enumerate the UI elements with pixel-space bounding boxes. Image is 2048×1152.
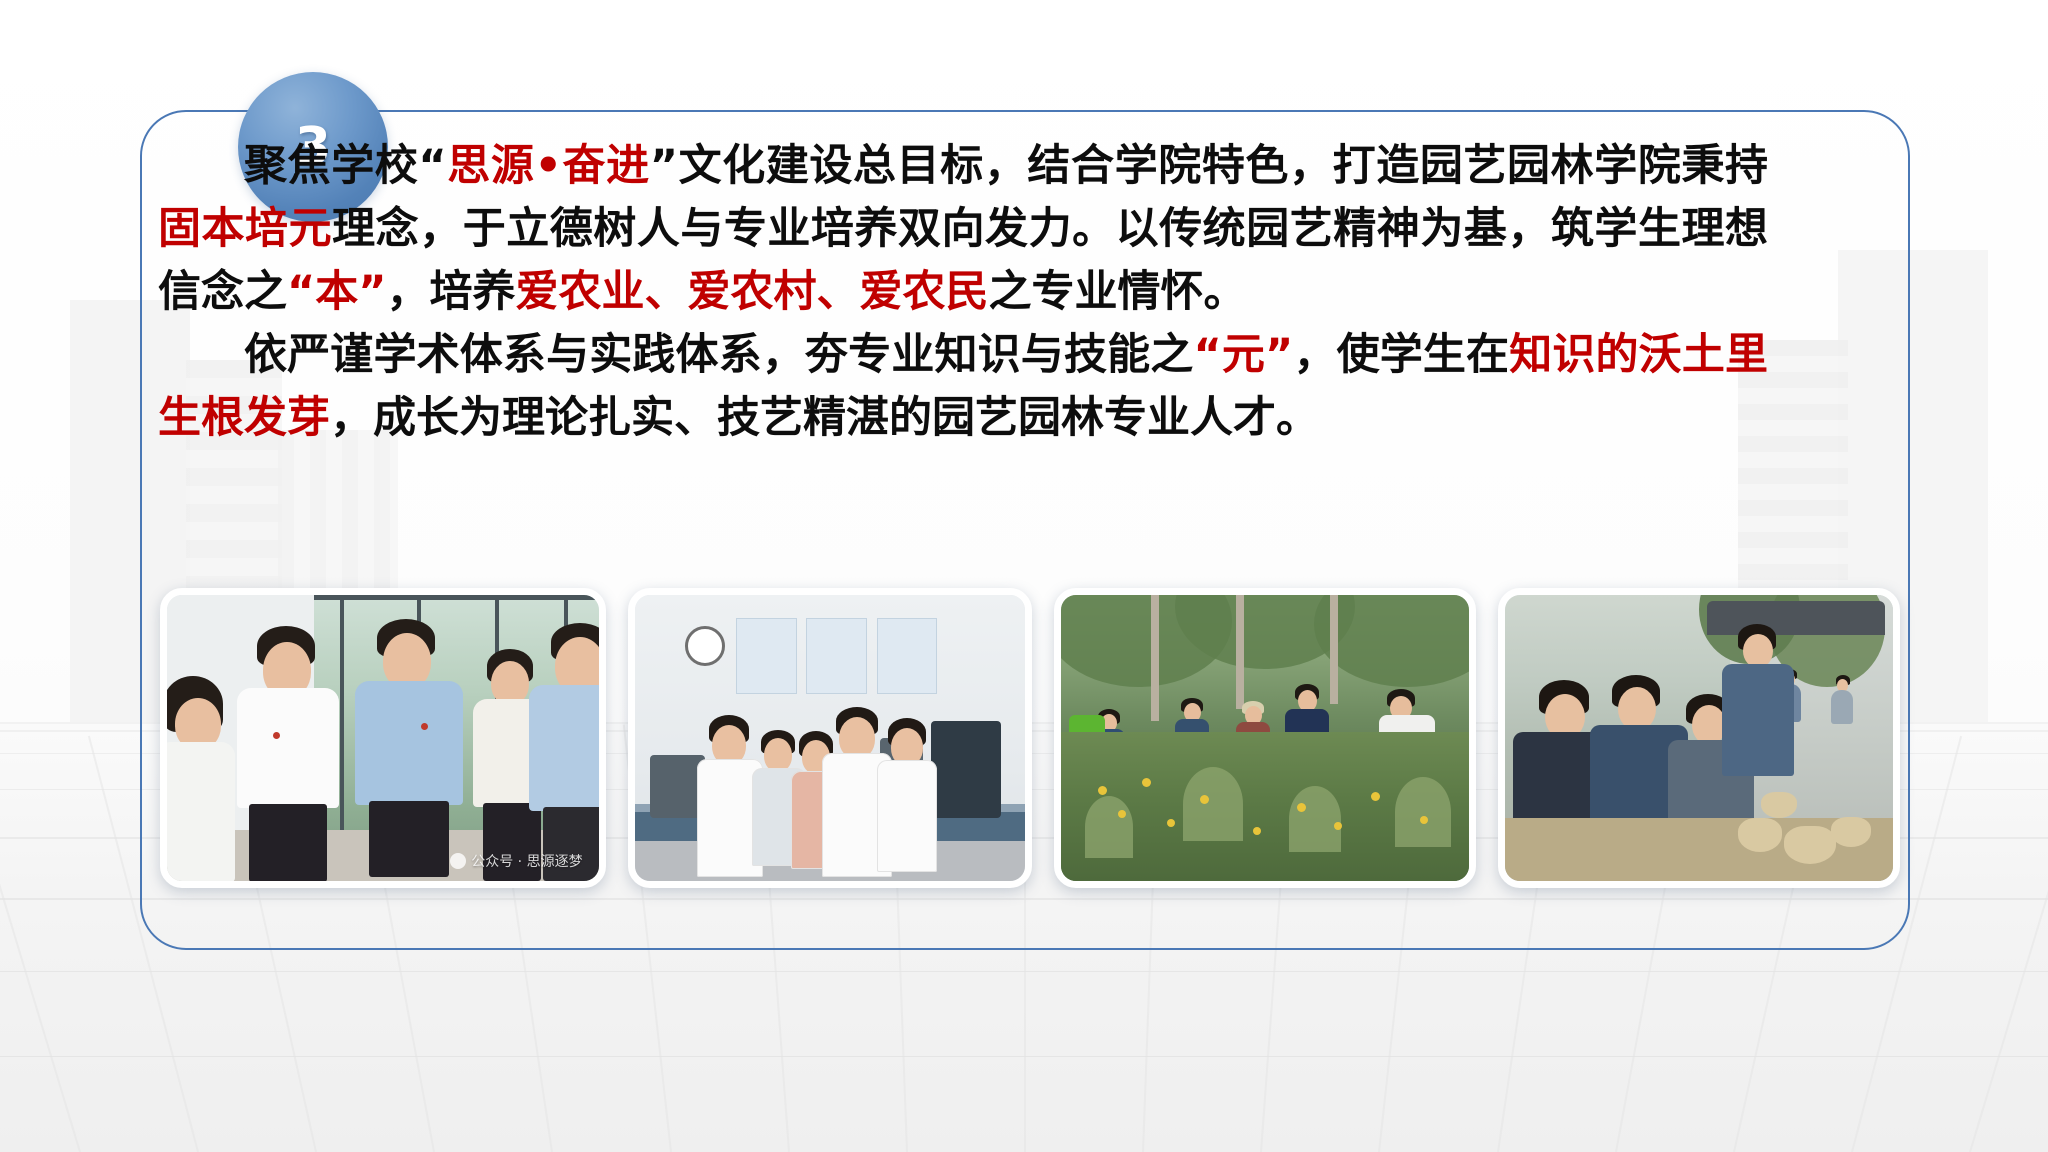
- text-run-9: 爱农业、爱农村、爱农民: [516, 267, 989, 317]
- paragraph-1: 聚焦学校“思源•奋进”文化建设总目标，结合学院特色，打造园艺园林学院秉持固本培元…: [158, 135, 1768, 324]
- photo-strip: 公众号 · 思源逐梦: [160, 588, 1900, 893]
- text-run-8: ，培养: [387, 267, 516, 317]
- text-run-7: “本”: [287, 267, 387, 317]
- photo-campus-visit[interactable]: 公众号 · 思源逐梦: [160, 588, 606, 888]
- badge-notch-mask: [90, 0, 330, 16]
- photo-watermark-text: 公众号 · 思源逐梦: [471, 851, 582, 871]
- text-run-4: 文化建设总目标，结合学院特色，打造园艺园林学院秉持: [678, 141, 1768, 191]
- text-run-4: ，成长为理论扎实、技艺精湛的园艺园林专业人才。: [330, 393, 1319, 443]
- floor-grid-vline: [0, 740, 80, 1152]
- text-run-1: “: [418, 141, 446, 191]
- wechat-icon: [450, 853, 466, 869]
- photo-field-practice[interactable]: [1498, 588, 1900, 888]
- text-run-1: “元”: [1193, 330, 1293, 380]
- text-run-0: 聚焦学校: [244, 141, 418, 191]
- photo-garden-visit-scene: [1061, 595, 1469, 881]
- text-run-2: 思源•奋进: [447, 141, 650, 191]
- photo-field-practice-scene: [1505, 595, 1893, 881]
- photo-campus-visit-scene: [167, 595, 599, 881]
- text-run-0: 依严谨学术体系与实践体系，夯专业知识与技能之: [244, 330, 1193, 380]
- text-run-2: ，使学生在: [1293, 330, 1509, 380]
- photo-laboratory[interactable]: [628, 588, 1032, 888]
- floor-grid-vline: [1969, 740, 2048, 1152]
- text-run-3: ”: [650, 141, 678, 191]
- paragraph-2: 依严谨学术体系与实践体系，夯专业知识与技能之“元”，使学生在知识的沃土里生根发芽…: [158, 324, 1768, 450]
- photo-watermark: 公众号 · 思源逐梦: [450, 851, 582, 871]
- body-copy: 聚焦学校“思源•奋进”文化建设总目标，结合学院特色，打造园艺园林学院秉持固本培元…: [158, 135, 1768, 450]
- photo-garden-visit[interactable]: [1054, 588, 1476, 888]
- photo-laboratory-scene: [635, 595, 1025, 881]
- text-run-10: 之专业情怀。: [989, 267, 1247, 317]
- text-run-5: 固本培元: [158, 204, 332, 254]
